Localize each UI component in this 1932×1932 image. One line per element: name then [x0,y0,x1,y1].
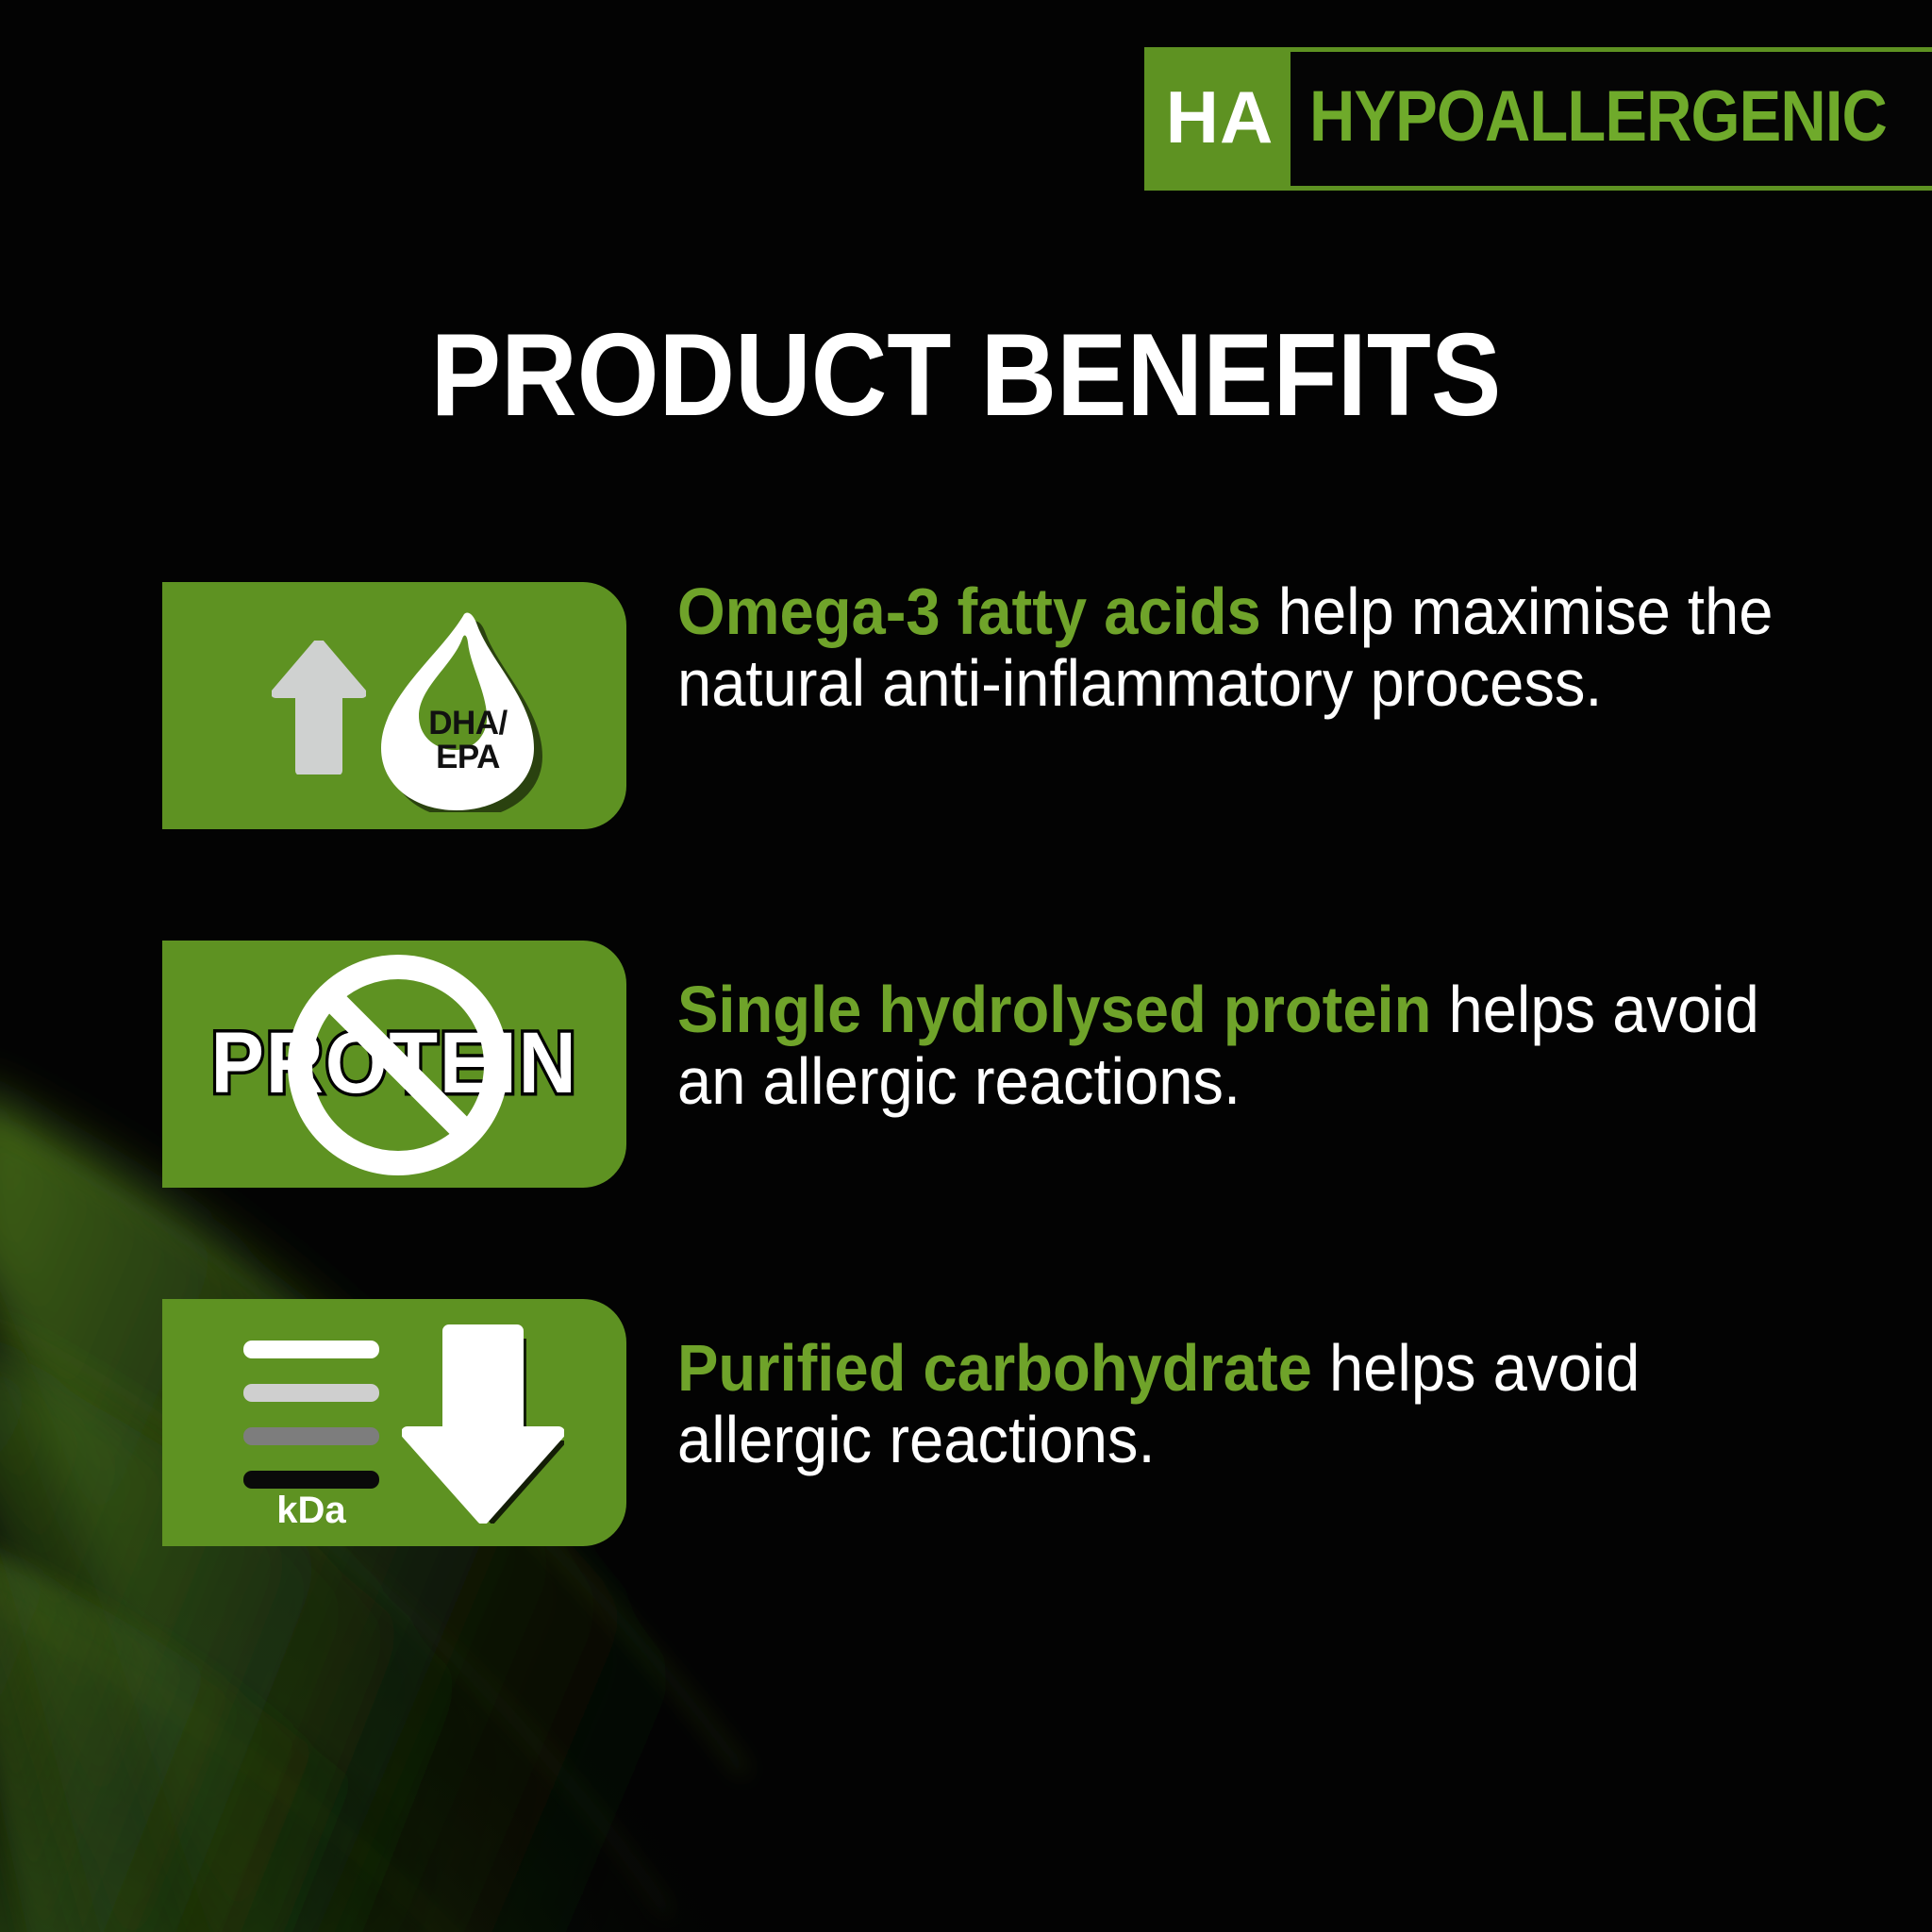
droplet-label-line2: EPA [384,741,552,774]
kda-bars-group [243,1341,379,1514]
hypoallergenic-badge: HA HYPOALLERGENIC ™ [1144,47,1932,191]
kda-bar [243,1427,379,1445]
benefit-icon-box-carbohydrate: kDa [162,1299,626,1546]
kda-bar [243,1384,379,1402]
benefit-text-protein: Single hydrolysed protein helps avoid an… [677,974,1783,1117]
droplet-label-line1: DHA/ [384,707,552,741]
kda-label: kDa [230,1491,392,1529]
kda-bar [243,1471,379,1489]
benefit-highlight: Single hydrolysed protein [677,973,1431,1046]
benefit-row: kDa Purified carbohydrate helps avoid al… [0,1299,1932,1546]
benefit-text-omega3: Omega-3 fatty acids help maximise the na… [677,576,1783,719]
badge-word-box: HYPOALLERGENIC ™ [1291,52,1932,186]
page-title: PRODUCT BENEFITS [96,317,1835,434]
down-arrow-icon [402,1324,564,1524]
up-arrow-icon [272,641,366,774]
kda-bar [243,1341,379,1358]
badge-ha-abbrev: HA [1149,52,1291,186]
prohibition-icon [281,948,515,1182]
benefit-row: DHA/ EPA Omega-3 fatty acids help maximi… [0,582,1932,829]
benefit-highlight: Purified carbohydrate [677,1331,1312,1405]
benefit-highlight: Omega-3 fatty acids [677,575,1261,648]
benefit-icon-box-omega3: DHA/ EPA [162,582,626,829]
benefit-icon-box-protein: PROTEIN [162,941,626,1188]
infographic-canvas: HA HYPOALLERGENIC ™ PRODUCT BENEFITS DHA… [0,0,1932,1932]
benefit-row: PROTEIN Single hydrolysed protein helps … [0,941,1932,1188]
benefit-text-carbohydrate: Purified carbohydrate helps avoid allerg… [677,1333,1783,1475]
badge-word-text: HYPOALLERGENIC [1309,81,1887,158]
droplet-label: DHA/ EPA [384,707,552,774]
